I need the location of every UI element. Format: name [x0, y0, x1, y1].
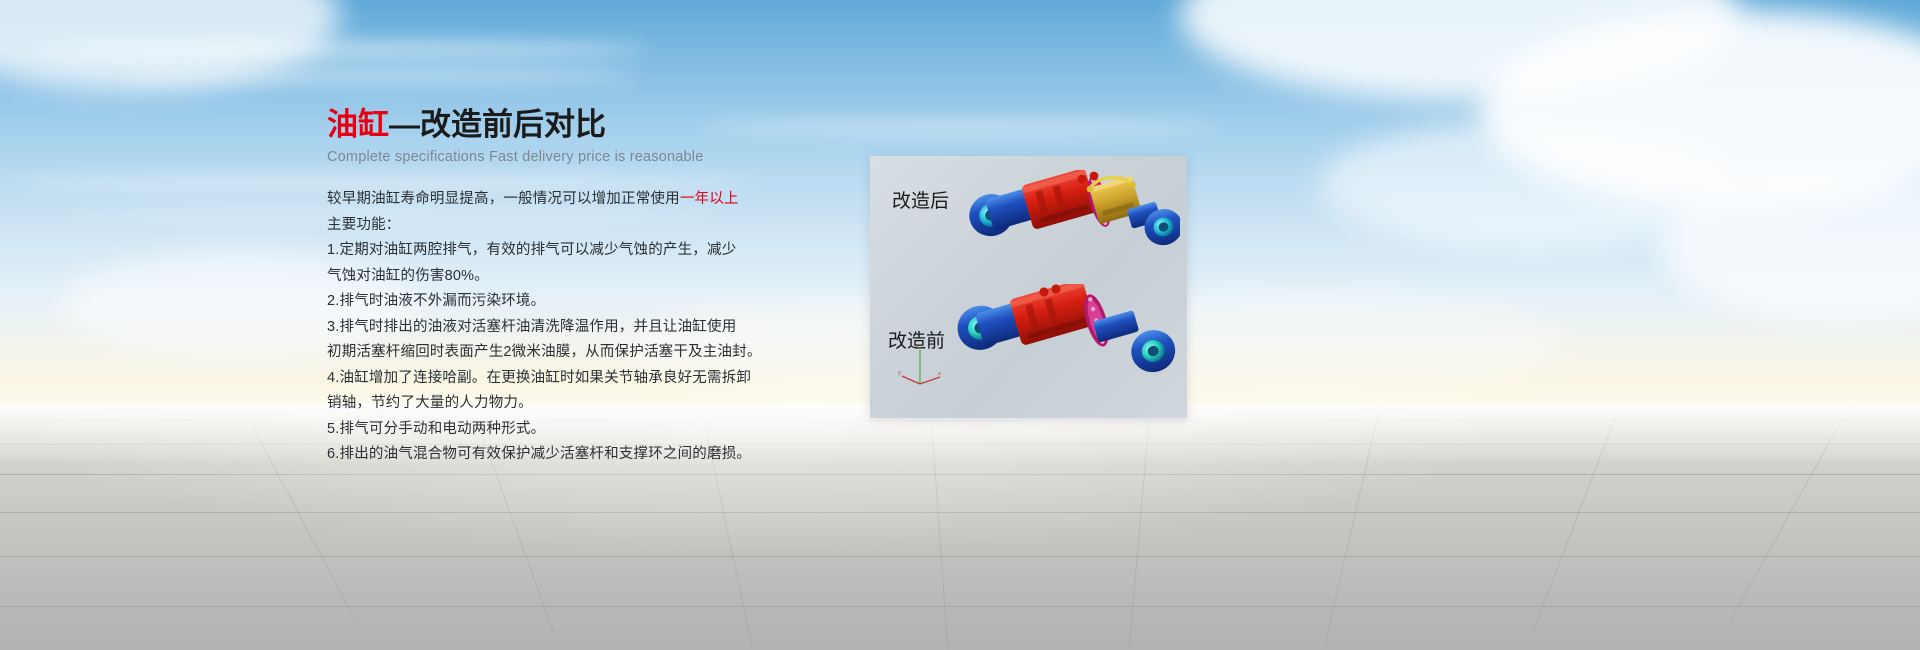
body-line-5: 2.排气时油液不外漏而污染环境。	[327, 289, 867, 315]
cylinder-after-illustration	[958, 170, 1180, 288]
body-line-8: 4.油缸增加了连接哈副。在更换油缸时如果关节轴承良好无需拆卸	[327, 366, 867, 392]
body-line-10: 5.排气可分手动和电动两种形式。	[327, 417, 867, 443]
cylinder-before-illustration	[948, 284, 1180, 410]
banner-copy: 油缸—改造前后对比 Complete specifications Fast d…	[327, 104, 867, 468]
body-line-9: 销轴，节约了大量的人力物力。	[327, 391, 867, 417]
cloud-wisp	[120, 70, 640, 82]
body-line-7: 初期活塞杆缩回时表面产生2微米油膜，从而保护活塞干及主油封。	[327, 340, 867, 366]
body-line-2: 主要功能：	[327, 213, 867, 239]
body-line-3: 1.定期对油缸两腔排气，有效的排气可以减少气蚀的产生，减少	[327, 238, 867, 264]
page-subtitle: Complete specifications Fast delivery pr…	[327, 149, 867, 165]
body-text-block: 较早期油缸寿命明显提高，一般情况可以增加正常使用一年以上 主要功能： 1.定期对…	[327, 187, 867, 468]
page-title: 油缸—改造前后对比	[327, 104, 867, 146]
page-title-highlight: 油缸	[327, 107, 389, 142]
cloud-wisp	[30, 42, 650, 58]
coordinate-axis-icon: z y x	[898, 344, 944, 386]
pavement-background	[0, 404, 1920, 650]
svg-text:y: y	[898, 370, 901, 376]
svg-text:z: z	[915, 345, 918, 351]
body-line-1-text: 较早期油缸寿命明显提高，一般情况可以增加正常使用	[327, 191, 680, 207]
product-comparison-image: 改造后 改造前 z y x	[870, 156, 1187, 418]
body-line-6: 3.排气时排出的油液对活塞杆油清洗降温作用，并且让油缸使用	[327, 315, 867, 341]
page-title-rest: —改造前后对比	[389, 107, 606, 142]
body-line-1-highlight: 一年以上	[680, 191, 739, 207]
body-line-1: 较早期油缸寿命明显提高，一般情况可以增加正常使用一年以上	[327, 187, 867, 213]
pavement-sheen	[0, 404, 1920, 650]
banner-stage: 油缸—改造前后对比 Complete specifications Fast d…	[0, 0, 1920, 650]
label-after-modification: 改造后	[892, 186, 949, 213]
body-line-11: 6.排出的油气混合物可有效保护减少活塞杆和支撑环之间的磨损。	[327, 442, 867, 468]
svg-text:x: x	[938, 371, 941, 377]
body-line-4: 气蚀对油缸的伤害80%。	[327, 264, 867, 290]
